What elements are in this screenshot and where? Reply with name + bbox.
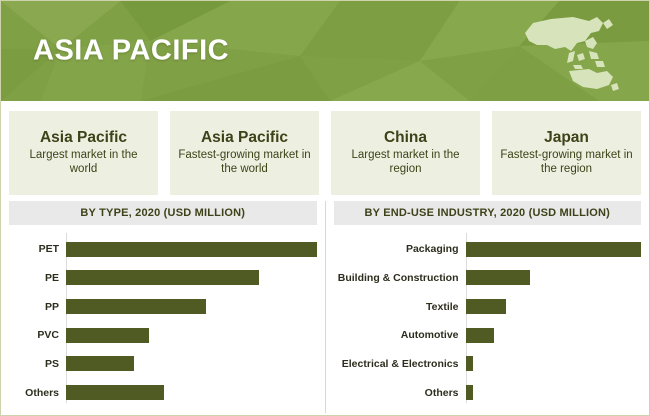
bar-row: PVC	[9, 324, 317, 346]
highlight-card-4: Japan Fastest-growing market in the regi…	[492, 111, 641, 195]
card-subtitle: Largest market in the world	[15, 149, 152, 177]
card-title: China	[384, 129, 427, 147]
bar-track	[66, 324, 317, 346]
bar-track	[66, 382, 317, 404]
bar	[66, 270, 259, 285]
bar-row: Packaging	[334, 238, 642, 260]
bar-row: Textile	[334, 296, 642, 318]
bar-label: Electrical & Electronics	[334, 358, 466, 370]
highlight-cards: Asia Pacific Largest market in the world…	[1, 101, 649, 201]
highlight-card-2: Asia Pacific Fastest-growing market in t…	[170, 111, 319, 195]
bar	[466, 242, 642, 257]
card-subtitle: Largest market in the region	[337, 149, 474, 177]
bar-track	[466, 353, 642, 375]
bar	[66, 242, 317, 257]
bar	[466, 299, 506, 314]
bar-label: Others	[9, 387, 66, 399]
bar-label: Automotive	[334, 329, 466, 341]
bar	[66, 328, 149, 343]
bar-track	[66, 238, 317, 260]
chart-panel-by-end-use-industry: BY END-USE INDUSTRY, 2020 (USD MILLION) …	[325, 201, 650, 413]
bar-track	[66, 267, 317, 289]
bar-track	[466, 238, 642, 260]
card-title: Asia Pacific	[40, 129, 127, 147]
bar-label: Others	[334, 387, 466, 399]
bar-row: PP	[9, 296, 317, 318]
bar-track	[466, 382, 642, 404]
bar-row: PS	[9, 353, 317, 375]
bar-row: PE	[9, 267, 317, 289]
bar-label: PP	[9, 301, 66, 313]
charts-section: BY TYPE, 2020 (USD MILLION) PET PE PP PV…	[1, 201, 649, 413]
bar	[66, 385, 164, 400]
bar-chart-by-end-use-industry: Packaging Building & Construction Textil…	[334, 233, 642, 407]
bar-label: PE	[9, 272, 66, 284]
bar-row: PET	[9, 238, 317, 260]
bar-label: Building & Construction	[334, 272, 466, 284]
bar-row: Electrical & Electronics	[334, 353, 642, 375]
bar-label: Packaging	[334, 243, 466, 255]
bar	[66, 356, 134, 371]
bar-label: PVC	[9, 329, 66, 341]
asia-pacific-infographic: ASIA PACIFIC Asia Pacific Largest market…	[0, 0, 650, 416]
chart-panel-by-type: BY TYPE, 2020 (USD MILLION) PET PE PP PV…	[1, 201, 325, 413]
card-title: Asia Pacific	[201, 129, 288, 147]
bar	[466, 328, 494, 343]
bar-row: Others	[334, 382, 642, 404]
bar-row: Automotive	[334, 324, 642, 346]
asia-pacific-map-icon	[511, 11, 631, 93]
bar	[66, 299, 206, 314]
chart-title-by-type: BY TYPE, 2020 (USD MILLION)	[9, 201, 317, 225]
page-title: ASIA PACIFIC	[33, 35, 229, 68]
bar-row: Others	[9, 382, 317, 404]
highlight-card-1: Asia Pacific Largest market in the world	[9, 111, 158, 195]
bar	[466, 385, 473, 400]
bar-label: PS	[9, 358, 66, 370]
bar-track	[466, 296, 642, 318]
bar	[466, 356, 473, 371]
bar-track	[466, 267, 642, 289]
bar	[466, 270, 531, 285]
card-subtitle: Fastest-growing market in the region	[498, 149, 635, 177]
bar-label: Textile	[334, 301, 466, 313]
bar-chart-by-type: PET PE PP PVC PS	[9, 233, 317, 407]
header-banner: ASIA PACIFIC	[1, 1, 649, 101]
bar-track	[466, 324, 642, 346]
bar-row: Building & Construction	[334, 267, 642, 289]
bar-label: PET	[9, 243, 66, 255]
bar-track	[66, 296, 317, 318]
bar-track	[66, 353, 317, 375]
chart-title-by-end-use-industry: BY END-USE INDUSTRY, 2020 (USD MILLION)	[334, 201, 642, 225]
card-subtitle: Fastest-growing market in the world	[176, 149, 313, 177]
highlight-card-3: China Largest market in the region	[331, 111, 480, 195]
card-title: Japan	[544, 129, 589, 147]
